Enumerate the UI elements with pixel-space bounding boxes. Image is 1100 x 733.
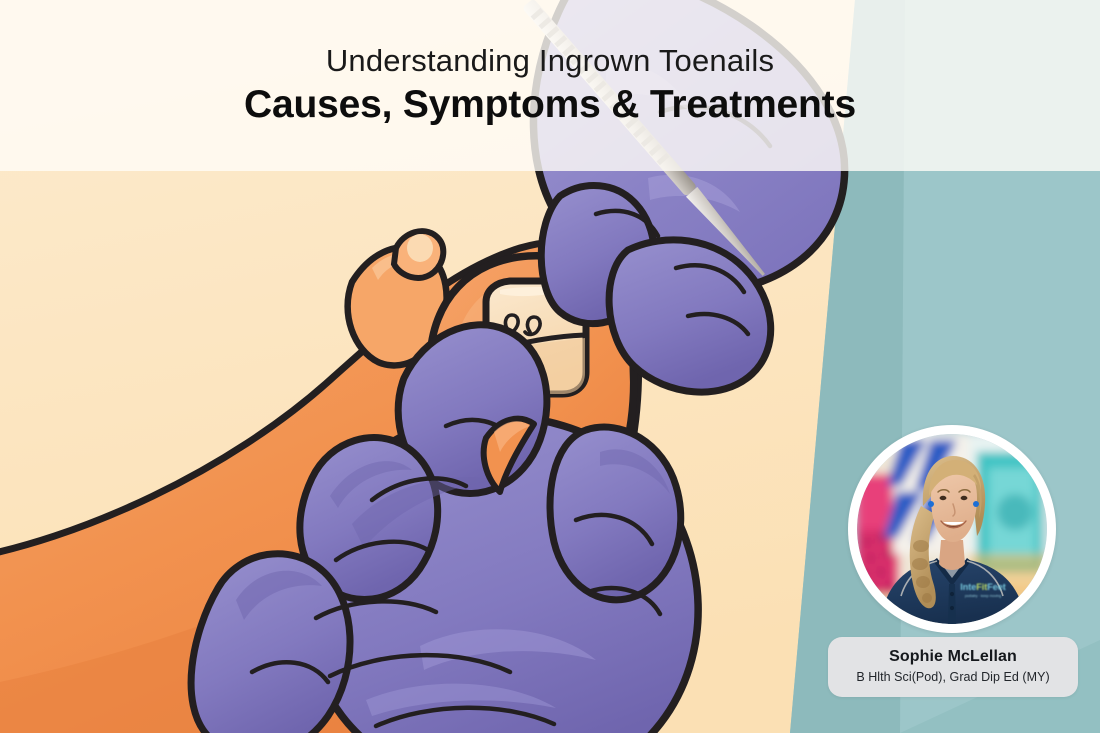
author-credentials: B Hlth Sci(Pod), Grad Dip Ed (MY) bbox=[840, 669, 1066, 685]
svg-text:InteFitFeet: InteFitFeet bbox=[960, 582, 1006, 592]
article-hero-banner: Understanding Ingrown Toenails Causes, S… bbox=[0, 0, 1100, 733]
page-title: Causes, Symptoms & Treatments bbox=[244, 83, 856, 128]
avatar-ring: InteFitFeet podiatry · keep moving bbox=[848, 425, 1056, 633]
author-name: Sophie McLellan bbox=[840, 647, 1066, 667]
author-block: InteFitFeet podiatry · keep moving bbox=[828, 425, 1078, 695]
header-text-group: Understanding Ingrown Toenails Causes, S… bbox=[0, 0, 1100, 171]
eyebrow-title: Understanding Ingrown Toenails bbox=[326, 43, 774, 79]
svg-text:podiatry · keep moving: podiatry · keep moving bbox=[965, 594, 1001, 598]
author-name-card: Sophie McLellan B Hlth Sci(Pod), Grad Di… bbox=[828, 637, 1078, 697]
avatar: InteFitFeet podiatry · keep moving bbox=[857, 434, 1047, 624]
